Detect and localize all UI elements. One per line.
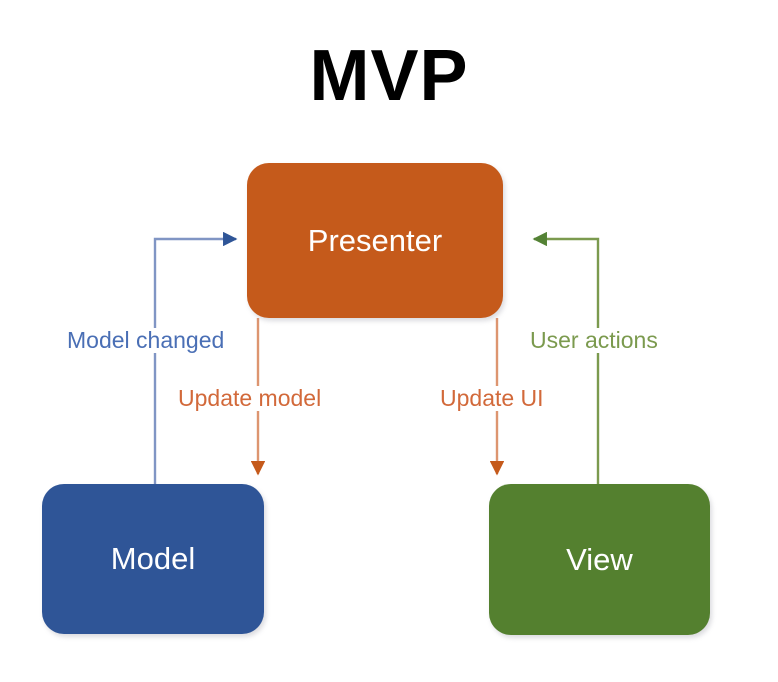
- node-view[interactable]: View: [489, 484, 710, 635]
- edge-label-model-changed: Model changed: [64, 328, 227, 353]
- node-presenter-label: Presenter: [308, 223, 442, 259]
- page-title: MVP: [0, 40, 778, 112]
- diagram-canvas: MVP Presenter Model View Model changed U…: [0, 0, 778, 682]
- edge-label-user-actions: User actions: [527, 328, 661, 353]
- node-model-label: Model: [111, 541, 195, 577]
- node-model[interactable]: Model: [42, 484, 264, 634]
- edge-label-update-model: Update model: [175, 386, 324, 411]
- node-presenter[interactable]: Presenter: [247, 163, 503, 318]
- edge-model-changed: [155, 239, 236, 486]
- edge-user-actions: [534, 239, 598, 486]
- node-view-label: View: [566, 542, 633, 578]
- edge-label-update-ui: Update UI: [437, 386, 547, 411]
